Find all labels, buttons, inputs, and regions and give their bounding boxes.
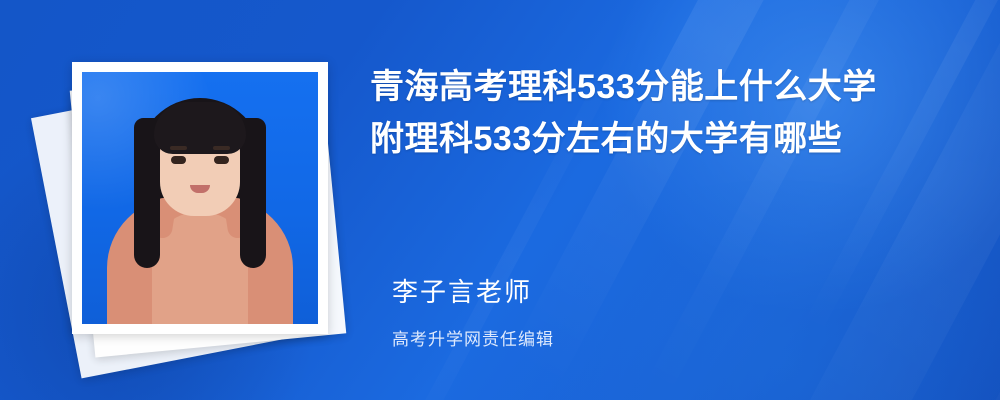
portrait-figure <box>82 72 318 324</box>
eyebrow-left <box>170 146 187 150</box>
decorative-streak <box>644 0 996 398</box>
photo-card-front <box>72 62 328 334</box>
background-glow-bottom <box>480 180 1000 400</box>
author-portrait <box>82 72 318 324</box>
author-role: 高考升学网责任编辑 <box>392 325 554 350</box>
eyebrow-right <box>213 146 230 150</box>
headline-block: 青海高考理科533分能上什么大学 附理科533分左右的大学有哪些 <box>370 62 970 165</box>
headline-line-1: 青海高考理科533分能上什么大学 <box>370 62 970 114</box>
eye-right <box>214 156 229 164</box>
author-name: 李子言老师 <box>392 272 554 309</box>
decorative-streak <box>801 0 1000 337</box>
eye-left <box>171 156 186 164</box>
hair-fringe-shape <box>154 102 246 154</box>
decorative-streak <box>719 0 1000 400</box>
decorative-streak <box>898 0 1000 400</box>
page-title: 青海高考理科533分能上什么大学 附理科533分左右的大学有哪些 <box>370 62 970 165</box>
headline-line-2: 附理科533分左右的大学有哪些 <box>370 114 970 166</box>
author-block: 李子言老师 高考升学网责任编辑 <box>392 272 554 350</box>
promo-banner: 青海高考理科533分能上什么大学 附理科533分左右的大学有哪些 李子言老师 高… <box>0 0 1000 400</box>
photo-stack <box>44 40 374 360</box>
decorative-streak <box>506 0 914 388</box>
